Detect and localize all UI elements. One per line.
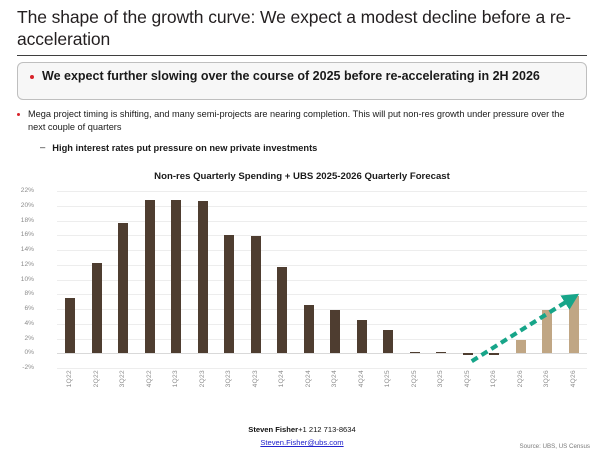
x-axis-tick-label: 1Q24 <box>278 370 285 387</box>
y-axis-tick-label: 14% <box>4 246 34 253</box>
y-axis-tick-label: 12% <box>4 261 34 268</box>
y-axis-tick-label: 8% <box>4 290 34 297</box>
chart-x-axis: 1Q222Q223Q224Q221Q232Q233Q234Q231Q242Q24… <box>57 370 587 415</box>
x-axis-tick-label: 2Q24 <box>305 370 312 387</box>
y-axis-tick-label: 22% <box>4 187 34 194</box>
callout-inner: We expect further slowing over the cours… <box>30 68 576 85</box>
y-axis-tick-label: 2% <box>4 335 34 342</box>
x-axis-tick-label: 4Q23 <box>252 370 259 387</box>
page-title: The shape of the growth curve: We expect… <box>17 6 587 51</box>
x-axis-tick-label: 3Q26 <box>543 370 550 387</box>
y-axis-tick-label: 10% <box>4 276 34 283</box>
footer-contact: Steven Fisher+1 212 713-8634 Steven.Fish… <box>0 419 604 447</box>
analyst-phone: +1 212 713-8634 <box>298 425 356 434</box>
slide-root: The shape of the growth curve: We expect… <box>0 0 604 457</box>
x-axis-tick-label: 2Q23 <box>199 370 206 387</box>
y-axis-tick-label: -2% <box>4 364 34 371</box>
bullet-dot-icon <box>30 75 34 79</box>
analyst-email-link[interactable]: Steven.Fisher@ubs.com <box>0 438 604 447</box>
y-axis-tick-label: 4% <box>4 320 34 327</box>
x-axis-tick-label: 1Q26 <box>490 370 497 387</box>
title-divider <box>17 55 587 56</box>
callout-text: We expect further slowing over the cours… <box>42 68 540 85</box>
x-axis-tick-label: 2Q25 <box>411 370 418 387</box>
x-axis-tick-label: 1Q25 <box>384 370 391 387</box>
x-axis-tick-label: 4Q22 <box>146 370 153 387</box>
chart-title: Non-res Quarterly Spending + UBS 2025-20… <box>0 171 604 182</box>
x-axis-tick-label: 4Q24 <box>358 370 365 387</box>
bullet-level2: – High interest rates put pressure on ne… <box>40 142 317 154</box>
bullet-level2-text: High interest rates put pressure on new … <box>52 142 317 154</box>
analyst-name: Steven Fisher <box>248 425 298 434</box>
x-axis-tick-label: 3Q24 <box>331 370 338 387</box>
y-axis-tick-label: 16% <box>4 231 34 238</box>
x-axis-tick-label: 3Q25 <box>437 370 444 387</box>
chart-y-axis: 22%20%18%16%14%12%10%8%6%4%2%0%-2% <box>57 191 587 368</box>
x-axis-tick-label: 4Q25 <box>464 370 471 387</box>
bullet-level1-text: Mega project timing is shifting, and man… <box>28 108 573 134</box>
y-axis-tick-label: 0% <box>4 349 34 356</box>
bullet-dot-icon <box>17 113 20 116</box>
x-axis-tick-label: 2Q26 <box>517 370 524 387</box>
x-axis-tick-label: 2Q22 <box>93 370 100 387</box>
source-note: Source: UBS, US Census <box>520 443 591 450</box>
y-axis-tick-label: 6% <box>4 305 34 312</box>
bullet-level1: Mega project timing is shifting, and man… <box>17 108 589 134</box>
x-axis-tick-label: 4Q26 <box>570 370 577 387</box>
x-axis-tick-label: 3Q23 <box>225 370 232 387</box>
x-axis-tick-label: 1Q23 <box>172 370 179 387</box>
bullet-dash-icon: – <box>40 142 45 154</box>
chart-gridline <box>57 368 587 369</box>
x-axis-tick-label: 1Q22 <box>66 370 73 387</box>
x-axis-tick-label: 3Q22 <box>119 370 126 387</box>
callout-box: We expect further slowing over the cours… <box>17 62 587 100</box>
y-axis-tick-label: 18% <box>4 217 34 224</box>
y-axis-tick-label: 20% <box>4 202 34 209</box>
